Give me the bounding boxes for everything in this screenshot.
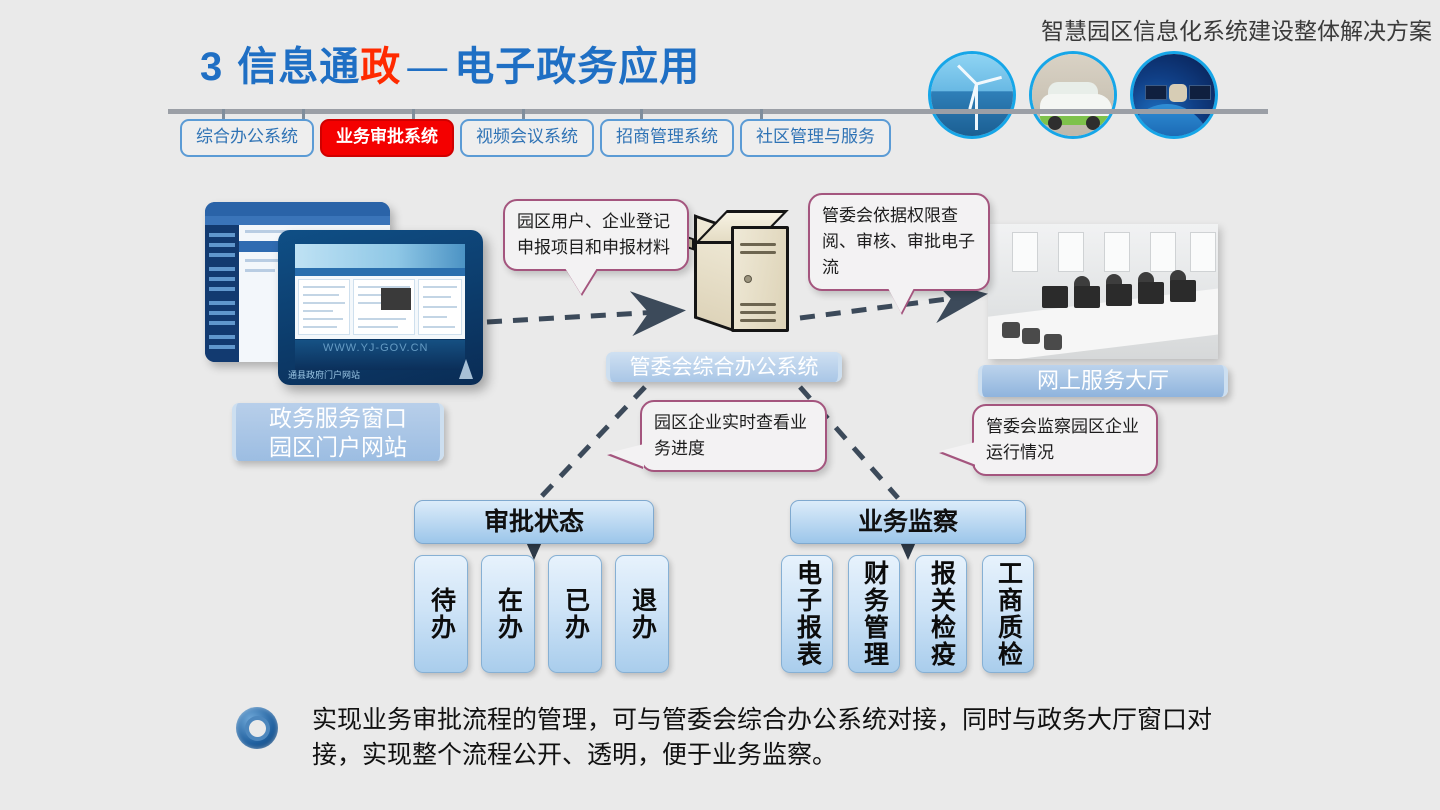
bullet-ring-icon	[236, 707, 278, 749]
park-portal-screenshot: WWW.YJ-GOV.CN 通县政府门户网站	[278, 230, 483, 385]
callout-progress: 园区企业实时查看业务进度	[640, 400, 827, 472]
service-hall-photo	[988, 224, 1218, 359]
portal-label: 政务服务窗口 园区门户网站	[232, 403, 444, 461]
callout-tail	[888, 288, 914, 313]
slide-number: 3	[200, 45, 223, 89]
tab-video-conference[interactable]: 视频会议系统	[460, 119, 594, 157]
callout-tail	[608, 444, 644, 467]
tab-bar: 综合办公系统 业务审批系统 视频会议系统 招商管理系统 社区管理与服务	[180, 119, 891, 157]
callout-tail	[940, 442, 976, 465]
group-heading-approval-status: 审批状态	[414, 500, 654, 544]
monitor-item-commerce[interactable]: 工商质检	[982, 555, 1034, 673]
wire-oa-to-status	[540, 387, 645, 498]
server-icon	[694, 212, 794, 334]
title-dash: —	[407, 45, 448, 89]
title-part-2: 电子政务应用	[454, 45, 700, 89]
monitor-item-customs[interactable]: 报关检疫	[915, 555, 967, 673]
monitor-item-e-report[interactable]: 电子报表	[781, 555, 833, 673]
wind-turbine-badge-icon	[928, 51, 1016, 139]
status-item-pending[interactable]: 待办	[414, 555, 468, 673]
wire-portal-to-server	[487, 311, 676, 322]
callout-apply: 园区用户、企业登记申报项目和申报材料	[503, 199, 689, 271]
slide-canvas: 3信息通政—电子政务应用 智慧园区信息化系统建设整体解决方案 综合办公系统 业务…	[0, 0, 1440, 810]
callout-tail	[565, 268, 597, 294]
title-part-1: 信息通	[237, 45, 360, 89]
document-title: 智慧园区信息化系统建设整体解决方案	[1041, 12, 1432, 46]
tab-business-approval[interactable]: 业务审批系统	[320, 119, 454, 157]
footer-note: 实现业务审批流程的管理，可与管委会综合办公系统对接，同时与政务大厅窗口对接，实现…	[312, 703, 1252, 773]
status-item-in-progress[interactable]: 在办	[481, 555, 535, 673]
callout-apply-text: 园区用户、企业登记申报项目和申报材料	[517, 212, 670, 257]
tab-community-service[interactable]: 社区管理与服务	[740, 119, 891, 157]
page-title: 3信息通政—电子政务应用	[200, 34, 700, 92]
callout-supervise: 管委会监察园区企业运行情况	[972, 404, 1158, 476]
status-item-returned[interactable]: 退办	[615, 555, 669, 673]
title-accent: 政	[360, 45, 401, 89]
callout-review: 管委会依据权限查阅、审核、审批电子流	[808, 193, 990, 291]
satellite-badge-icon	[1130, 51, 1218, 139]
header-divider	[168, 109, 1268, 114]
portal-label-line1: 政务服务窗口	[236, 404, 440, 433]
tab-investment-management[interactable]: 招商管理系统	[600, 119, 734, 157]
group-heading-business-supervision: 业务监察	[790, 500, 1026, 544]
status-item-done[interactable]: 已办	[548, 555, 602, 673]
callout-review-text: 管委会依据权限查阅、审核、审批电子流	[822, 206, 975, 277]
electric-car-badge-icon	[1029, 51, 1117, 139]
oa-system-label: 管委会综合办公系统	[606, 352, 842, 382]
callout-supervise-text: 管委会监察园区企业运行情况	[986, 417, 1139, 462]
monitor-item-finance[interactable]: 财务管理	[848, 555, 900, 673]
portal-label-line2: 园区门户网站	[236, 433, 440, 462]
tab-comprehensive-office[interactable]: 综合办公系统	[180, 119, 314, 157]
callout-progress-text: 园区企业实时查看业务进度	[654, 413, 807, 458]
online-service-hall-label: 网上服务大厅	[978, 365, 1228, 397]
